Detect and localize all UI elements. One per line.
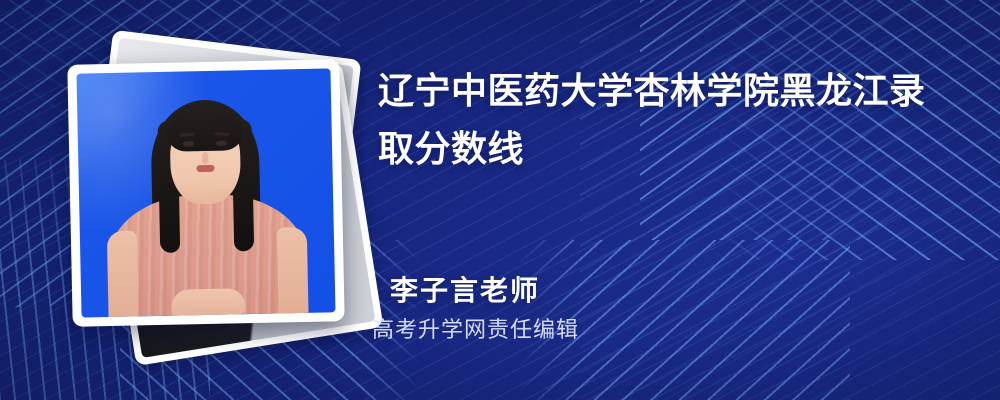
arm-right xyxy=(277,227,309,314)
hair-front xyxy=(166,108,243,152)
mouth xyxy=(196,165,214,172)
byline-block: 李子言老师 高考升学网责任编辑 xyxy=(390,274,950,344)
article-cover-banner: 辽宁中医药大学杏林学院黑龙江录取分数线 李子言老师 高考升学网责任编辑 xyxy=(0,0,1000,400)
portrait-photo-frame xyxy=(67,59,344,327)
eye-left xyxy=(183,141,194,146)
arm-left xyxy=(107,230,139,317)
nose xyxy=(202,151,208,163)
hands xyxy=(171,288,246,316)
author-name: 李子言老师 xyxy=(390,274,950,308)
author-role: 高考升学网责任编辑 xyxy=(372,316,950,344)
headline-block: 辽宁中医药大学杏林学院黑龙江录取分数线 xyxy=(378,62,968,178)
eye-right xyxy=(216,140,227,145)
portrait-photo xyxy=(76,68,335,317)
page-title: 辽宁中医药大学杏林学院黑龙江录取分数线 xyxy=(378,62,956,178)
portrait-figure xyxy=(76,68,335,317)
avatar xyxy=(62,44,352,354)
